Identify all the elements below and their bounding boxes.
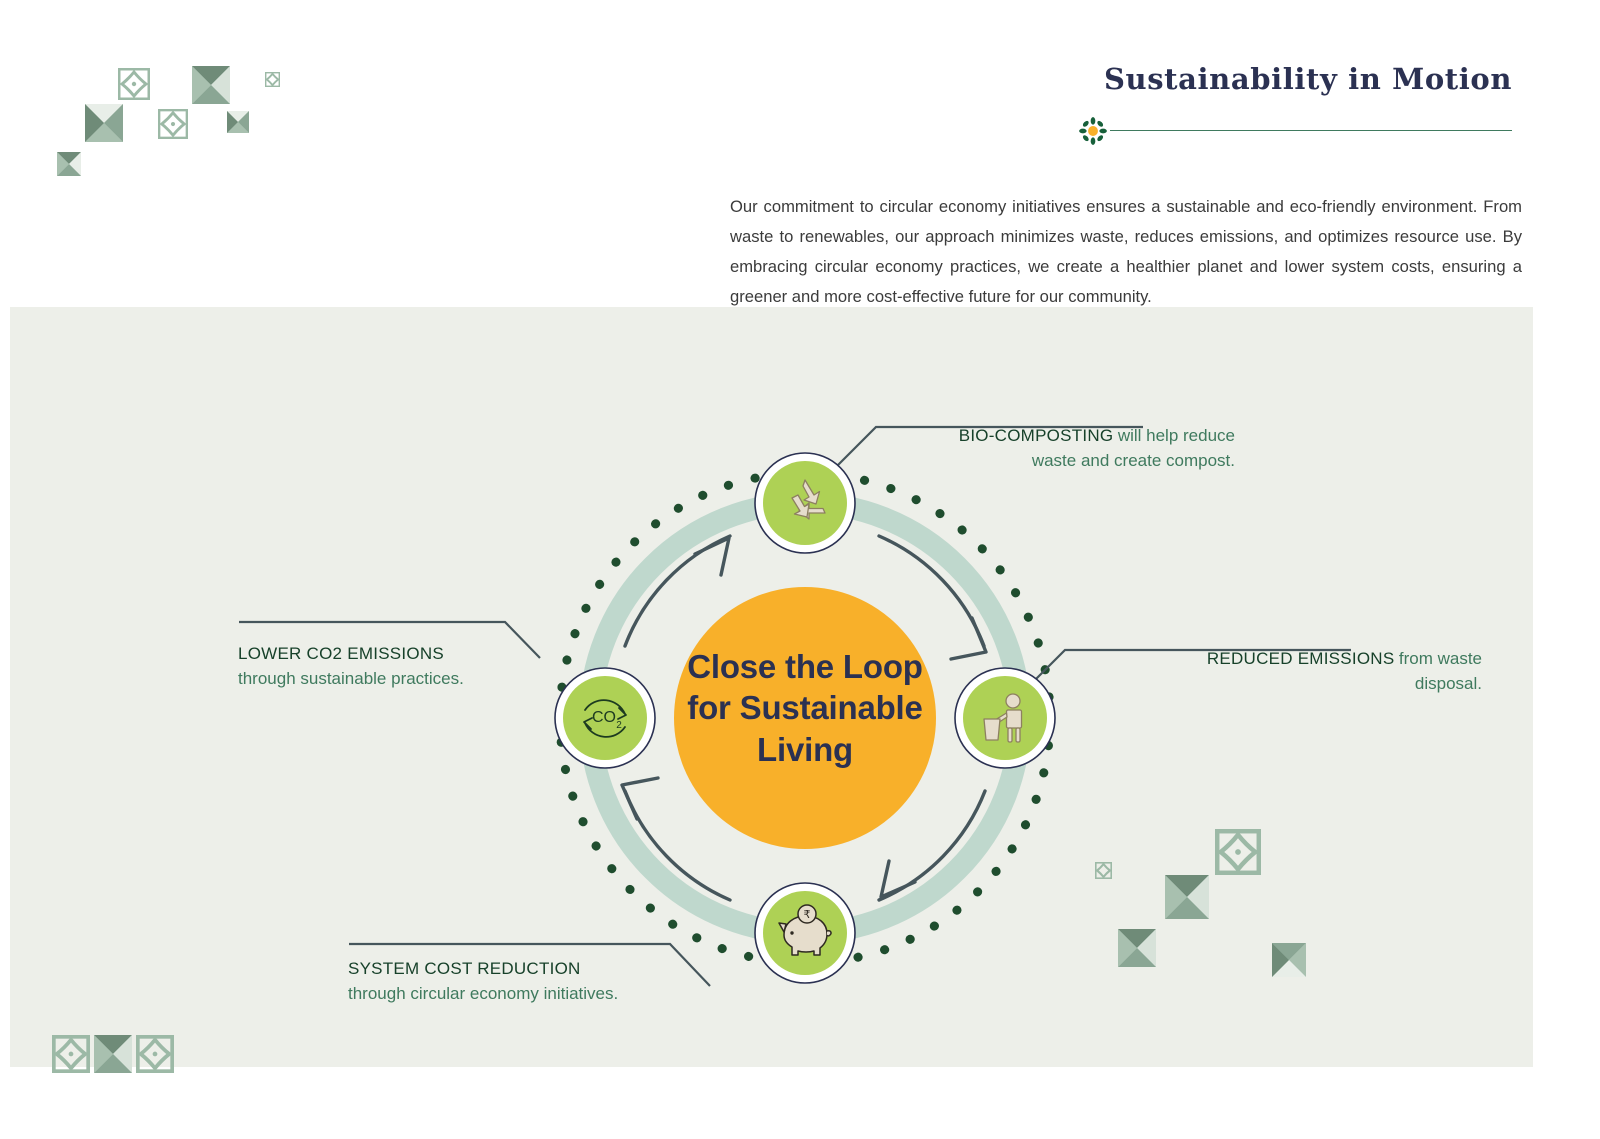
- lattice-tile-small: [265, 72, 280, 87]
- callout-kicker: REDUCED EMISSIONS: [1207, 649, 1395, 668]
- title-divider: [1110, 130, 1512, 131]
- callout-lower-co2-emissions: LOWER CO2 EMISSIONS through sustainable …: [238, 642, 538, 691]
- svg-text:CO: CO: [592, 709, 616, 726]
- center-title: Close the Loop for Sustainable Living: [673, 646, 937, 770]
- pyramid-tile: [85, 104, 123, 142]
- svg-text:₹: ₹: [804, 908, 811, 921]
- pyramid-tile: [227, 111, 249, 133]
- node-reduced-emissions[interactable]: [955, 668, 1055, 768]
- lattice-tile: [1215, 829, 1261, 875]
- pyramid-tile: [57, 152, 81, 176]
- callout-kicker: BIO-COMPOSTING: [959, 426, 1114, 445]
- svg-text:2: 2: [616, 720, 622, 731]
- page-header: Sustainability in Motion Our commitment …: [0, 0, 1600, 307]
- lattice-tile: [136, 1035, 174, 1073]
- node-bio-composting[interactable]: [755, 453, 855, 553]
- callout-kicker: SYSTEM COST REDUCTION: [348, 957, 708, 982]
- lattice-tile: [158, 109, 188, 139]
- callout-desc: from waste disposal.: [1399, 649, 1482, 693]
- pyramid-tile: [192, 66, 230, 104]
- pyramid-tile: [1272, 943, 1306, 977]
- lattice-tile-small: [1095, 862, 1112, 879]
- node-system-cost-reduction[interactable]: ₹: [755, 883, 855, 983]
- intro-paragraph: Our commitment to circular economy initi…: [730, 192, 1522, 313]
- callout-desc: through circular economy initiatives.: [348, 982, 708, 1007]
- callout-desc: through sustainable practices.: [238, 667, 538, 692]
- callout-bio-composting: BIO-COMPOSTING will help reduce waste an…: [915, 424, 1235, 473]
- pyramid-tile: [1165, 875, 1209, 919]
- pyramid-tile: [94, 1035, 132, 1073]
- pyramid-tile: [1118, 929, 1156, 967]
- callout-reduced-emissions: REDUCED EMISSIONS from waste disposal.: [1142, 647, 1482, 696]
- sunflower-icon: [1078, 116, 1108, 146]
- lattice-tile: [118, 68, 150, 100]
- node-lower-co2-emissions[interactable]: CO 2: [555, 668, 655, 768]
- lattice-tile: [52, 1035, 90, 1073]
- callout-system-cost-reduction: SYSTEM COST REDUCTION through circular e…: [348, 957, 708, 1006]
- page-title: Sustainability in Motion: [1104, 62, 1512, 96]
- diagram-panel: ₹ CO 2 Close the Loop for Sustainable Li…: [10, 307, 1533, 1067]
- callout-kicker: LOWER CO2 EMISSIONS: [238, 642, 538, 667]
